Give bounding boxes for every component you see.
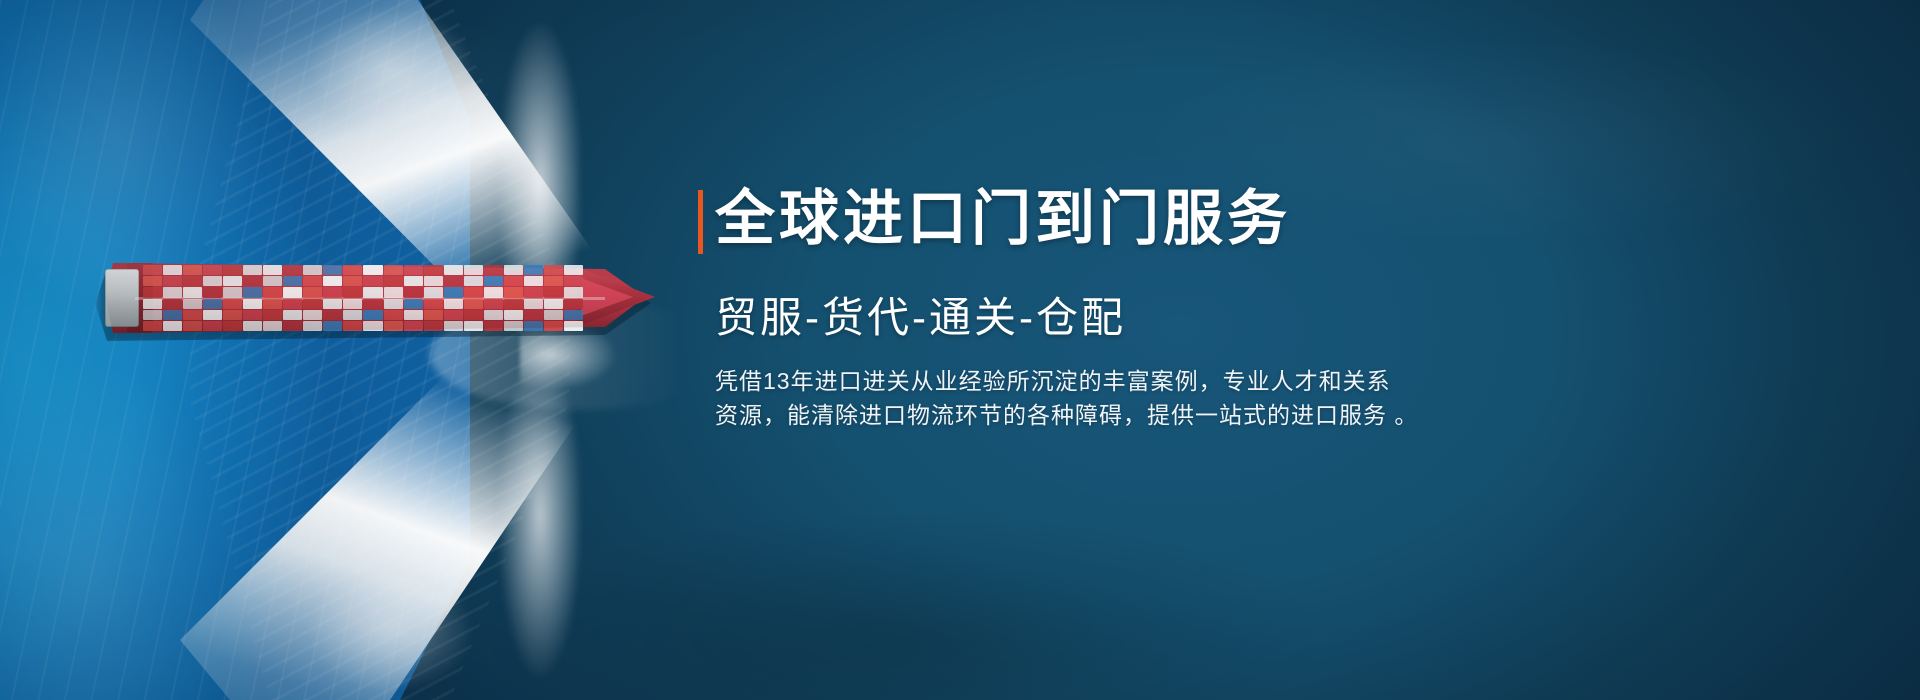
subtitle: 贸服-货代-通关-仓配 (715, 294, 1848, 342)
hero-banner: 全球进口门到门服务 贸服-货代-通关-仓配 凭借13年进口进关从业经验所沉淀的丰… (0, 0, 1920, 700)
description-line-2: 资源，能清除进口物流环节的各种障碍，提供一站式的进口服务 。 (715, 398, 1725, 432)
headline-row: 全球进口门到门服务 (698, 186, 1848, 254)
page-title: 全球进口门到门服务 (715, 186, 1291, 254)
hero-content: 全球进口门到门服务 贸服-货代-通关-仓配 凭借13年进口进关从业经验所沉淀的丰… (698, 186, 1848, 432)
container-ship (105, 247, 645, 347)
accent-bar-icon (698, 190, 703, 254)
description: 凭借13年进口进关从业经验所沉淀的丰富案例，专业人才和关系 资源，能清除进口物流… (715, 364, 1725, 432)
description-line-1: 凭借13年进口进关从业经验所沉淀的丰富案例，专业人才和关系 (715, 364, 1725, 398)
